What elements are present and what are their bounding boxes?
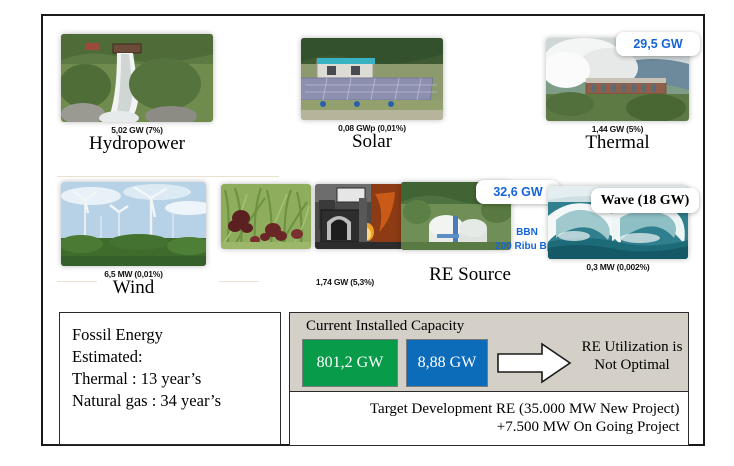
fossil-line-1: Fossil Energy	[72, 324, 280, 346]
solar-label: Solar	[301, 132, 443, 152]
bioenergy-capacity: 1,74 GW (5,3%)	[285, 277, 405, 287]
re-utilization-conclusion: RE Utilization is Not Optimal	[574, 339, 690, 374]
fossil-line-3: Thermal : 13 year’s	[72, 368, 280, 390]
solar-photo	[301, 38, 443, 120]
re-utilization-line-1: RE Utilization is	[574, 339, 690, 357]
re-capacity-chip: 8,88 GW	[406, 339, 488, 387]
furnace-icon	[315, 184, 403, 249]
biomass-furnace-photo	[315, 184, 403, 249]
palm-fruit-photo	[221, 184, 311, 249]
wind-photo	[61, 182, 206, 266]
re-utilization-line-2: Not Optimal	[574, 357, 690, 375]
block-arrow-icon	[496, 341, 572, 385]
divider-rule-mid	[219, 176, 279, 177]
divider-rule-bottom2	[219, 281, 259, 282]
source-tile-bioenergy-furnace	[315, 184, 403, 249]
waterfall-icon	[61, 34, 213, 122]
source-tile-hydropower: 5,02 GW (7%) Hydropower	[61, 34, 213, 154]
source-tile-bioenergy-palm	[221, 184, 311, 249]
slide-frame: 5,02 GW (7%) Hydropower	[41, 14, 705, 446]
fossil-line-4: Natural gas : 34 year’s	[72, 390, 280, 412]
capacity-panel: Current Installed Capacity 801,2 GW 8,88…	[289, 312, 689, 445]
source-tile-solar: 0,08 GWp (0,01%) Solar	[301, 38, 443, 152]
capacity-panel-heading: Current Installed Capacity	[290, 313, 688, 337]
hydropower-photo	[61, 34, 213, 122]
slide-root: 5,02 GW (7%) Hydropower	[0, 0, 734, 466]
re-source-label: RE Source	[405, 265, 535, 285]
capacity-chip-row: 801,2 GW 8,88 GW RE Utilization is Not O…	[296, 337, 682, 393]
palm-fruit-icon	[221, 184, 311, 249]
source-tile-wind: 6,5 MW (0,01%) Wind	[61, 182, 206, 298]
wind-label: Wind	[61, 278, 206, 298]
target-line-2: +7.500 MW On Going Project	[497, 418, 680, 436]
total-capacity-chip: 801,2 GW	[302, 339, 398, 387]
target-line-1: Target Development RE (35.000 MW New Pro…	[370, 400, 680, 418]
target-development-box: Target Development RE (35.000 MW New Pro…	[289, 391, 689, 446]
arrow-right-icon	[496, 341, 572, 385]
fossil-energy-box: Fossil Energy Estimated: Thermal : 13 ye…	[59, 312, 281, 445]
wave-potential-callout: Wave (18 GW)	[591, 188, 699, 213]
thermal-label: Thermal	[546, 133, 689, 153]
hydropower-label: Hydropower	[61, 134, 213, 154]
wave-capacity: 0,3 MW (0,002%)	[548, 262, 688, 272]
solar-panel-icon	[301, 38, 443, 120]
thermal-potential-callout: 29,5 GW	[616, 32, 700, 56]
fossil-line-2: Estimated:	[72, 346, 280, 368]
wind-turbine-icon	[61, 182, 206, 266]
